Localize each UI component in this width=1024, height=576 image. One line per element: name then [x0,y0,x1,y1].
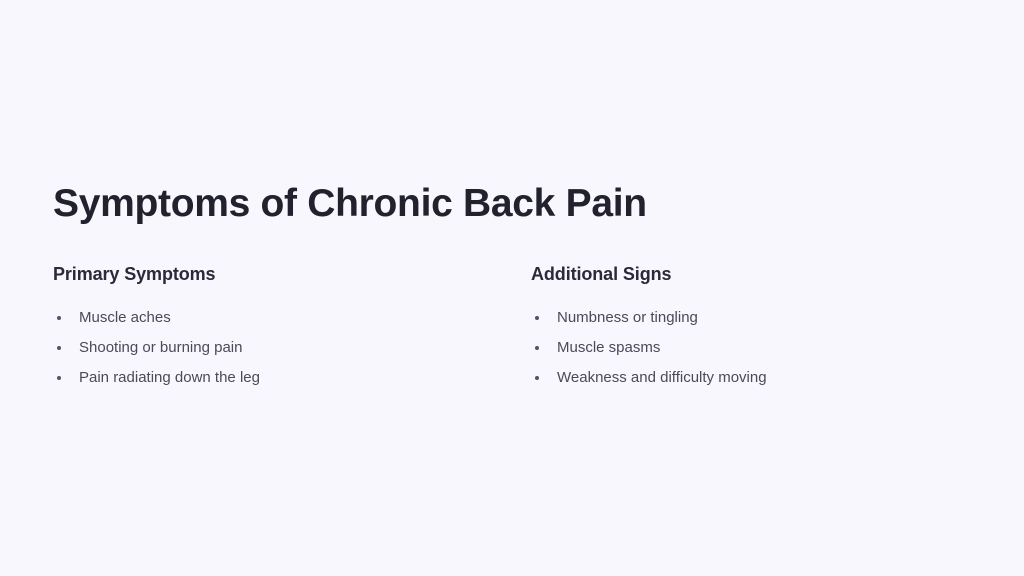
column-primary-symptoms: Primary Symptoms Muscle aches Shooting o… [53,263,473,393]
column-heading-additional-signs: Additional Signs [531,263,951,285]
bullet-dot-icon [535,316,539,320]
bullet-list-additional-signs: Numbness or tingling Muscle spasms Weakn… [531,303,951,393]
list-item: Shooting or burning pain [53,333,473,363]
list-item-label: Muscle spasms [557,339,660,356]
list-item: Muscle aches [53,303,473,333]
slide-canvas: Symptoms of Chronic Back Pain Primary Sy… [0,0,1024,576]
list-item-label: Numbness or tingling [557,309,698,326]
bullet-dot-icon [535,346,539,350]
list-item-label: Weakness and difficulty moving [557,369,767,386]
bullet-dot-icon [57,316,61,320]
list-item-label: Muscle aches [79,309,171,326]
column-heading-primary-symptoms: Primary Symptoms [53,263,473,285]
list-item: Numbness or tingling [531,303,951,333]
list-item: Muscle spasms [531,333,951,363]
list-item-label: Pain radiating down the leg [79,369,260,386]
list-item: Pain radiating down the leg [53,363,473,393]
list-item: Weakness and difficulty moving [531,363,951,393]
bullet-list-primary-symptoms: Muscle aches Shooting or burning pain Pa… [53,303,473,393]
list-item-label: Shooting or burning pain [79,339,242,356]
bullet-dot-icon [57,346,61,350]
bullet-dot-icon [535,376,539,380]
bullet-dot-icon [57,376,61,380]
column-additional-signs: Additional Signs Numbness or tingling Mu… [531,263,951,393]
page-title: Symptoms of Chronic Back Pain [53,181,647,227]
